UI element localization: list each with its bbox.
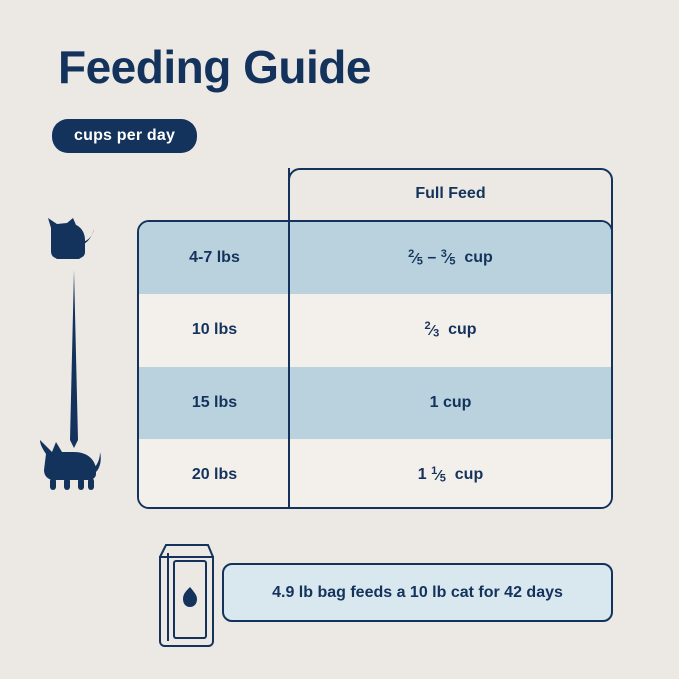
table-rows: 4-7 lbs 2⁄5 – 3⁄5 cup 10 lbs 2⁄3 cup 15 … (137, 220, 613, 509)
unit-spacer (446, 466, 455, 484)
feeding-table: Full Feed 4-7 lbs 2⁄5 – 3⁄5 cup 10 lbs 2… (137, 168, 613, 509)
cell-amount: 2⁄5 – 3⁄5 cup (290, 222, 611, 294)
cell-weight: 4-7 lbs (139, 222, 290, 294)
cell-weight: 20 lbs (139, 439, 290, 509)
whole-number: 1 (418, 466, 427, 484)
unit-text: cup (448, 321, 476, 339)
table-row: 4-7 lbs 2⁄5 – 3⁄5 cup (139, 222, 611, 294)
table-row: 15 lbs 1 cup (139, 367, 611, 439)
table-row: 10 lbs 2⁄3 cup (139, 294, 611, 366)
unit-label (455, 249, 464, 267)
bag-duration-note: 4.9 lb bag feeds a 10 lb cat for 42 days (222, 563, 613, 622)
unit-spacer (439, 321, 448, 339)
cell-amount: 1 cup (290, 367, 611, 439)
unit-text: cup (455, 466, 483, 484)
subtitle-badge: cups per day (52, 119, 197, 153)
cell-weight: 15 lbs (139, 367, 290, 439)
column-divider (288, 168, 290, 509)
unit-text: cup (464, 249, 492, 267)
height-marker-icon (68, 270, 80, 448)
column-header-full-feed: Full Feed (288, 168, 613, 220)
cat-walking-icon (36, 440, 102, 492)
table-row: 20 lbs 1 1⁄5 cup (139, 439, 611, 509)
range-dash: – (423, 249, 441, 267)
cell-weight: 10 lbs (139, 294, 290, 366)
cell-amount: 2⁄3 cup (290, 294, 611, 366)
page-title: Feeding Guide (58, 42, 371, 93)
cell-amount: 1 1⁄5 cup (290, 439, 611, 509)
cat-sitting-icon (45, 218, 95, 264)
